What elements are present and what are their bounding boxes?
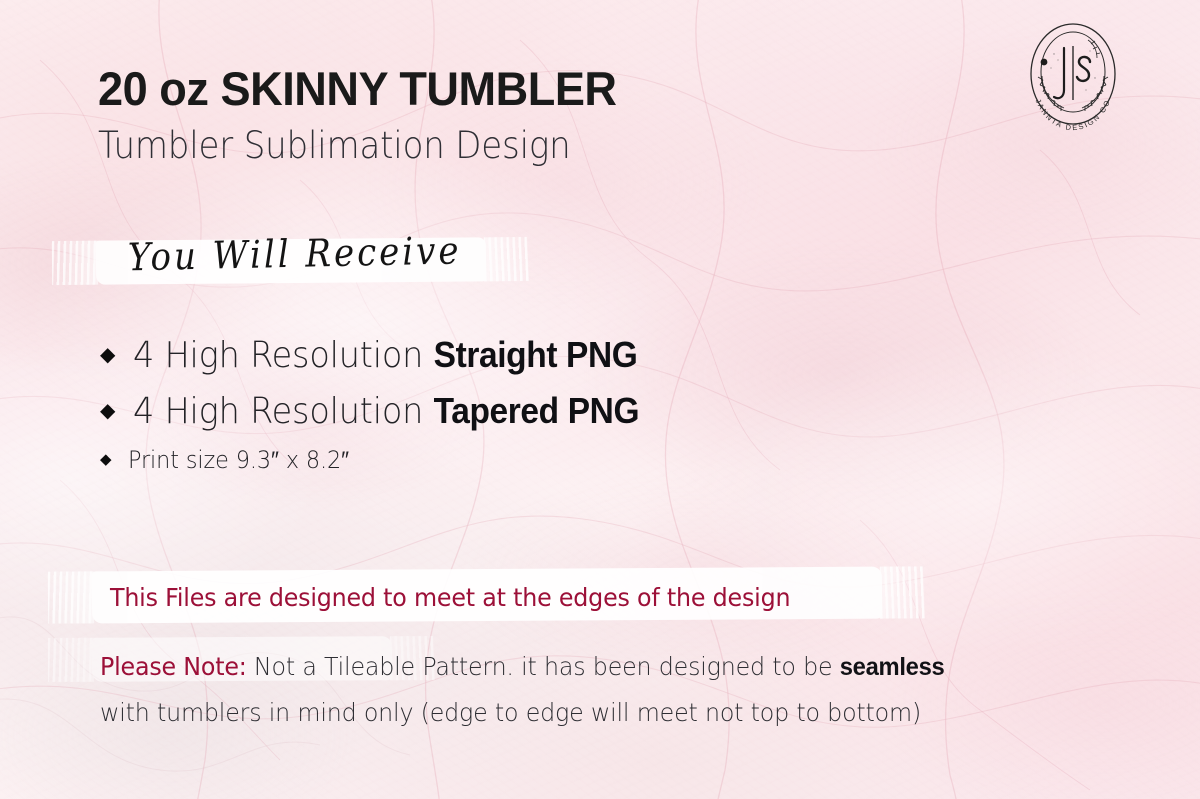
list-item-text: Print size 9.3″ x 8.2″: [128, 446, 349, 475]
please-note-body-1: Not a Tileable Pattern. it has been desi…: [247, 652, 840, 681]
you-will-receive-heading: You Will Receive: [128, 229, 462, 281]
please-note-label: Please Note:: [100, 652, 247, 681]
list-item-text-bold: Straight PNG: [434, 334, 638, 375]
list-item: ◆ 4 High Resolution Straight PNG: [100, 334, 678, 376]
list-item: ◆ 4 High Resolution Tapered PNG: [100, 390, 678, 432]
please-note-body-2: with tumblers in mind only (edge to edge…: [100, 698, 921, 727]
diamond-bullet-icon: ◆: [100, 450, 112, 468]
list-item-text: 4 High Resolution Straight PNG: [133, 334, 637, 376]
edges-statement: This Files are designed to meet at the e…: [110, 583, 790, 612]
brand-logo: JANNTA DESIGN CO: [1018, 18, 1128, 136]
page-title: 20 oz SKINNY TUMBLER: [98, 64, 617, 114]
tumbler-design-listing-graphic: JANNTA DESIGN CO 20 oz SKINNY TUMBLER Tu…: [0, 0, 1200, 799]
list-item: ◆ Print size 9.3″ x 8.2″: [100, 446, 678, 475]
please-note-block: Please Note: Not a Tileable Pattern. it …: [100, 644, 1110, 737]
please-note-bold: seamless: [840, 653, 945, 681]
list-item-text-normal: 4 High Resolution: [133, 391, 434, 432]
diamond-bullet-icon: ◆: [100, 342, 115, 367]
svg-text:JANNTA DESIGN CO: JANNTA DESIGN CO: [1034, 97, 1113, 132]
page-subtitle: Tumbler Sublimation Design: [98, 126, 595, 165]
list-item-text: 4 High Resolution Tapered PNG: [133, 390, 639, 432]
deliverables-list: ◆ 4 High Resolution Straight PNG ◆ 4 Hig…: [100, 334, 678, 475]
diamond-bullet-icon: ◆: [100, 398, 115, 423]
logo-brand-text: JANNTA DESIGN CO: [1034, 97, 1113, 132]
list-item-text-bold: Tapered PNG: [434, 390, 640, 431]
list-item-text-normal: 4 High Resolution: [133, 335, 434, 376]
title-block: 20 oz SKINNY TUMBLER Tumbler Sublimation…: [98, 64, 638, 165]
